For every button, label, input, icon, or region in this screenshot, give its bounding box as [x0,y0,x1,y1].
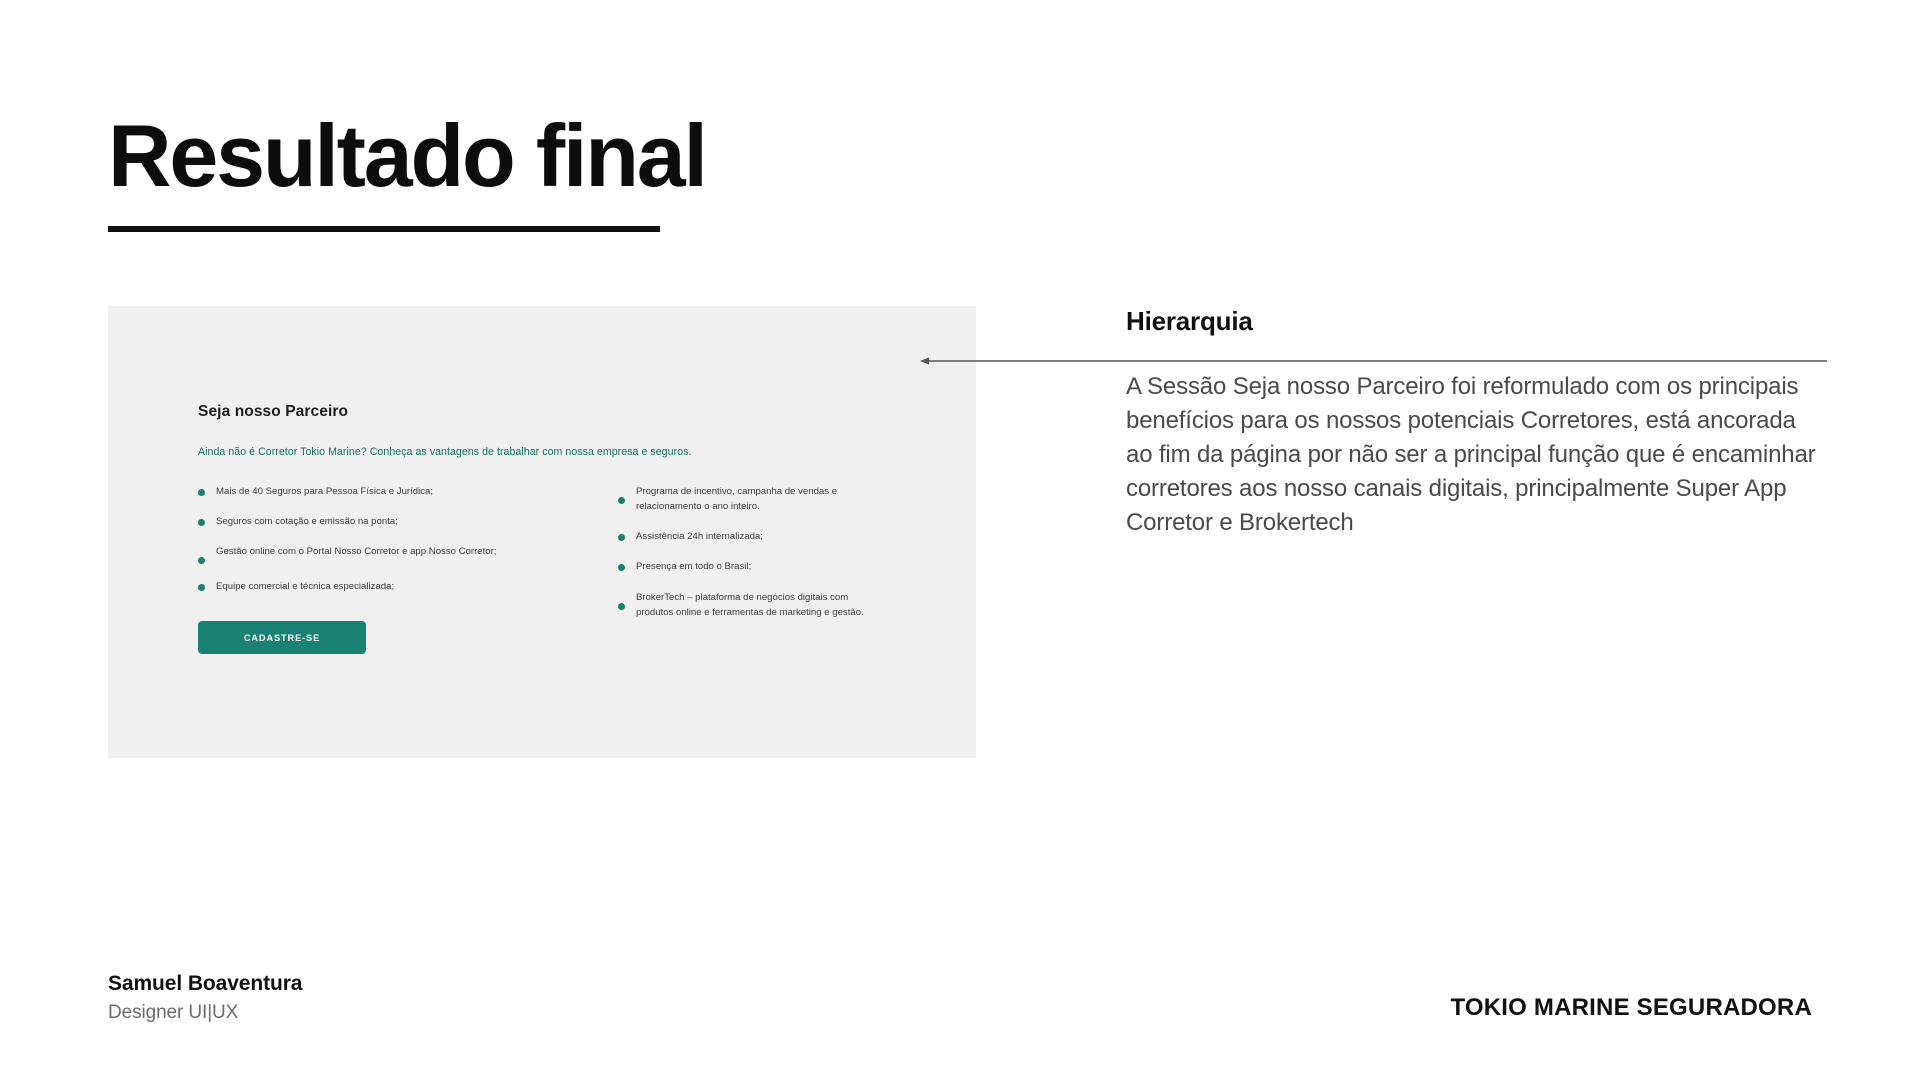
list-item: Gestão online com o Portal Nosso Correto… [198,544,498,564]
callout-body-text: A Sessão Seja nosso Parceiro foi reformu… [1126,370,1826,540]
page-title: Resultado final [108,112,706,200]
title-underline-rule [108,226,660,232]
bullet-dot-icon [618,603,625,610]
benefit-text: Mais de 40 Seguros para Pessoa Física e … [216,484,433,499]
list-item: Assistência 24h internalizada; [618,529,866,544]
benefit-text: Equipe comercial e técnica especializada… [216,579,394,594]
bullet-dot-icon [198,489,205,496]
callout-block: Hierarquia A Sessão Seja nosso Parceiro … [1126,306,1826,540]
benefit-column-left: Mais de 40 Seguros para Pessoa Física e … [198,484,498,654]
mockup-content: Seja nosso Parceiro Ainda não é Corretor… [198,403,928,654]
mockup-heading: Seja nosso Parceiro [198,403,928,421]
footer-author-role: Designer UI|UX [108,1002,302,1024]
list-item: Mais de 40 Seguros para Pessoa Física e … [198,484,498,499]
benefit-text: BrokerTech – plataforma de negócios digi… [636,590,866,620]
footer-author-block: Samuel Boaventura Designer UI|UX [108,972,302,1024]
mockup-benefit-columns: Mais de 40 Seguros para Pessoa Física e … [198,484,928,654]
benefit-text: Gestão online com o Portal Nosso Correto… [216,544,496,559]
bullet-dot-icon [198,584,205,591]
list-item: BrokerTech – plataforma de negócios digi… [618,590,866,620]
cadastre-se-button[interactable]: CADASTRE-SE [198,621,366,654]
bullet-dot-icon [618,564,625,571]
mockup-subheading: Ainda não é Corretor Tokio Marine? Conhe… [198,446,928,458]
bullet-dot-icon [198,557,205,564]
list-item: Presença em todo o Brasil; [618,559,866,574]
mockup-card: Seja nosso Parceiro Ainda não é Corretor… [108,306,976,758]
benefit-text: Programa de incentivo, campanha de venda… [636,484,866,514]
list-item: Programa de incentivo, campanha de venda… [618,484,866,514]
footer-author-name: Samuel Boaventura [108,972,302,996]
list-item: Equipe comercial e técnica especializada… [198,579,498,594]
benefit-text: Assistência 24h internalizada; [636,529,763,544]
benefit-column-right: Programa de incentivo, campanha de venda… [566,484,866,654]
benefit-text: Presença em todo o Brasil; [636,559,751,574]
benefit-text: Seguros com cotação e emissão na ponta; [216,514,398,529]
list-item: Seguros com cotação e emissão na ponta; [198,514,498,529]
bullet-dot-icon [618,497,625,504]
bullet-dot-icon [198,519,205,526]
footer-brand-wordmark: TOKIO MARINE SEGURADORA [1450,994,1812,1022]
bullet-dot-icon [618,534,625,541]
title-block: Resultado final [108,112,706,232]
callout-title: Hierarquia [1126,306,1826,337]
slide-root: Resultado final Seja nosso Parceiro Aind… [0,0,1920,1080]
